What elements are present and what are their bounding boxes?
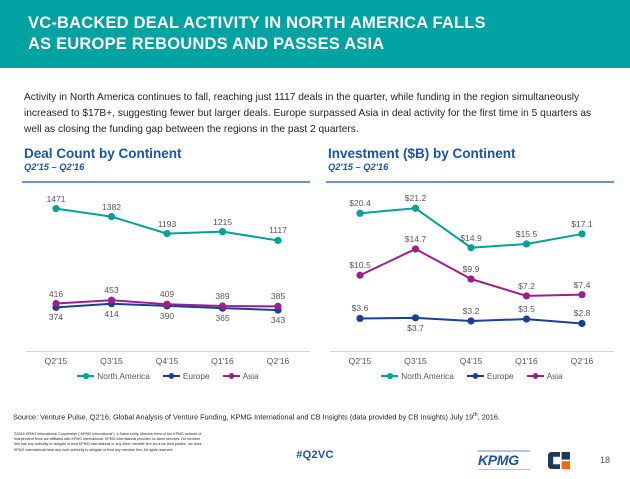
source-note-text: Source: Venture Pulse, Q2'16, Global Ana… xyxy=(13,412,473,421)
legend-swatch-icon xyxy=(223,372,240,380)
legend-swatch-icon xyxy=(163,372,180,380)
data-point xyxy=(108,297,115,304)
data-point-label: 374 xyxy=(49,312,63,322)
legend-item-asia[interactable]: Asia xyxy=(527,371,563,381)
data-point xyxy=(467,317,474,324)
data-point-label: $20.4 xyxy=(349,198,371,208)
panel-deal-count-rule xyxy=(22,181,310,183)
data-point-label: $3.2 xyxy=(463,306,480,316)
data-point-label: 390 xyxy=(160,311,174,321)
data-point xyxy=(219,302,226,309)
data-point xyxy=(163,230,170,237)
panel-deal-count-subtitle: Q2'15 – Q2'16 xyxy=(24,162,318,172)
data-point-label: $3.6 xyxy=(352,303,369,313)
data-point xyxy=(356,210,363,217)
chart-investment: $20.4$21.2$14.9$15.5$17.1$3.6$3.7$3.2$3.… xyxy=(326,189,618,375)
cb-insights-logo xyxy=(548,452,570,469)
page-number: 18 xyxy=(600,455,610,465)
page-title-line-1: VC-BACKED DEAL ACTIVITY IN NORTH AMERICA… xyxy=(28,13,608,34)
x-axis-tick-label: Q2'15 xyxy=(45,356,68,366)
legend-item-europe[interactable]: Europe xyxy=(467,371,514,381)
x-axis-tick-label: Q2'16 xyxy=(571,356,594,366)
data-point xyxy=(523,292,530,299)
data-point xyxy=(274,237,281,244)
x-axis-tick-label: Q1'16 xyxy=(211,356,234,366)
data-point-label: 1117 xyxy=(269,225,287,235)
data-point-label: 453 xyxy=(104,285,118,295)
x-axis-line xyxy=(330,351,614,352)
data-point-label: $3.5 xyxy=(518,304,535,314)
panel-deal-count-title: Deal Count by Continent xyxy=(24,146,318,161)
x-axis-tick-label: Q2'16 xyxy=(267,356,290,366)
legend-label: Asia xyxy=(243,371,259,381)
data-point xyxy=(578,291,585,298)
chart-plot-svg xyxy=(22,189,314,361)
hashtag-q2vc: #Q2VC xyxy=(0,449,630,461)
data-point xyxy=(219,228,226,235)
data-point xyxy=(578,320,585,327)
legend-swatch-icon xyxy=(381,372,398,380)
data-point xyxy=(523,240,530,247)
data-point xyxy=(412,245,419,252)
data-point-label: 416 xyxy=(49,289,63,299)
data-point xyxy=(52,205,59,212)
data-point-label: $17.1 xyxy=(571,219,593,229)
chart-legend: North AmericaEuropeAsia xyxy=(22,371,314,381)
x-axis-tick-label: Q3'15 xyxy=(404,356,427,366)
data-point xyxy=(356,272,363,279)
intro-paragraph: Activity in North America continues to f… xyxy=(24,90,610,138)
data-point-label: $14.7 xyxy=(405,234,427,244)
data-point xyxy=(274,303,281,310)
data-point-label: 1215 xyxy=(213,217,232,227)
data-point-label: 385 xyxy=(271,291,285,301)
kpmg-logo-text: KPMG xyxy=(478,452,519,468)
data-point-label: $7.2 xyxy=(518,281,535,291)
chart-legend: North AmericaEuropeAsia xyxy=(326,371,618,381)
data-point xyxy=(356,315,363,322)
data-point-label: 389 xyxy=(215,291,229,301)
data-point-label: $21.2 xyxy=(405,193,427,203)
panel-deal-count: Deal Count by Continent Q2'15 – Q2'16 14… xyxy=(22,146,318,406)
data-point-label: 414 xyxy=(104,309,118,319)
legend-swatch-icon xyxy=(77,372,94,380)
data-point xyxy=(578,230,585,237)
data-point-label: $9.9 xyxy=(463,264,480,274)
panel-investment-title: Investment ($B) by Continent xyxy=(328,146,622,161)
kpmg-logo: KPMG xyxy=(478,452,519,468)
legend-label: North America xyxy=(97,371,150,381)
legend-item-asia[interactable]: Asia xyxy=(223,371,259,381)
data-point-label: $10.5 xyxy=(349,260,371,270)
legend-item-north-america[interactable]: North America xyxy=(77,371,150,381)
panel-investment-subtitle: Q2'15 – Q2'16 xyxy=(328,162,622,172)
source-note-end: , 2016. xyxy=(478,412,500,421)
legend-swatch-icon xyxy=(467,372,484,380)
x-axis-tick-label: Q4'15 xyxy=(156,356,179,366)
data-point-label: $15.5 xyxy=(516,229,538,239)
data-point-label: 343 xyxy=(271,315,285,325)
source-note: Source: Venture Pulse, Q2'16, Global Ana… xyxy=(13,412,617,421)
chart-plot-svg xyxy=(326,189,618,361)
data-point xyxy=(52,300,59,307)
x-axis-line xyxy=(26,351,310,352)
data-point-label: 1382 xyxy=(102,202,121,212)
data-point xyxy=(163,301,170,308)
x-axis-tick-label: Q4'15 xyxy=(460,356,483,366)
legend-label: Europe xyxy=(183,371,210,381)
kpmg-logo-bar-bottom xyxy=(478,469,530,471)
data-point-label: 365 xyxy=(215,313,229,323)
legend-label: North America xyxy=(401,371,454,381)
panel-investment: Investment ($B) by Continent Q2'15 – Q2'… xyxy=(326,146,622,406)
legend-item-north-america[interactable]: North America xyxy=(381,371,454,381)
data-point-label: $2.8 xyxy=(574,308,591,318)
page-title: VC-BACKED DEAL ACTIVITY IN NORTH AMERICA… xyxy=(28,13,608,55)
panel-investment-rule xyxy=(326,181,614,183)
chart-deal-count: 1471138211931215111737441439036534341645… xyxy=(22,189,314,375)
data-point-label: $3.7 xyxy=(407,323,424,333)
kpmg-logo-bar-top xyxy=(478,450,530,452)
data-point-label: 1471 xyxy=(46,194,65,204)
data-point xyxy=(523,315,530,322)
page-title-line-2: AS EUROPE REBOUNDS AND PASSES ASIA xyxy=(28,34,608,55)
data-point-label: $7.4 xyxy=(574,280,591,290)
x-axis-tick-label: Q2'15 xyxy=(349,356,372,366)
data-point-label: $14.9 xyxy=(460,233,482,243)
legend-item-europe[interactable]: Europe xyxy=(163,371,210,381)
x-axis-tick-label: Q3'15 xyxy=(100,356,123,366)
data-point-label: 1193 xyxy=(158,219,176,229)
data-point xyxy=(467,244,474,251)
legend-label: Europe xyxy=(487,371,514,381)
legend-label: Asia xyxy=(547,371,563,381)
data-point xyxy=(412,205,419,212)
data-point-label: 409 xyxy=(160,289,174,299)
data-point xyxy=(108,213,115,220)
data-point xyxy=(467,275,474,282)
legend-swatch-icon xyxy=(527,372,544,380)
x-axis-tick-label: Q1'16 xyxy=(515,356,538,366)
data-point xyxy=(412,314,419,321)
